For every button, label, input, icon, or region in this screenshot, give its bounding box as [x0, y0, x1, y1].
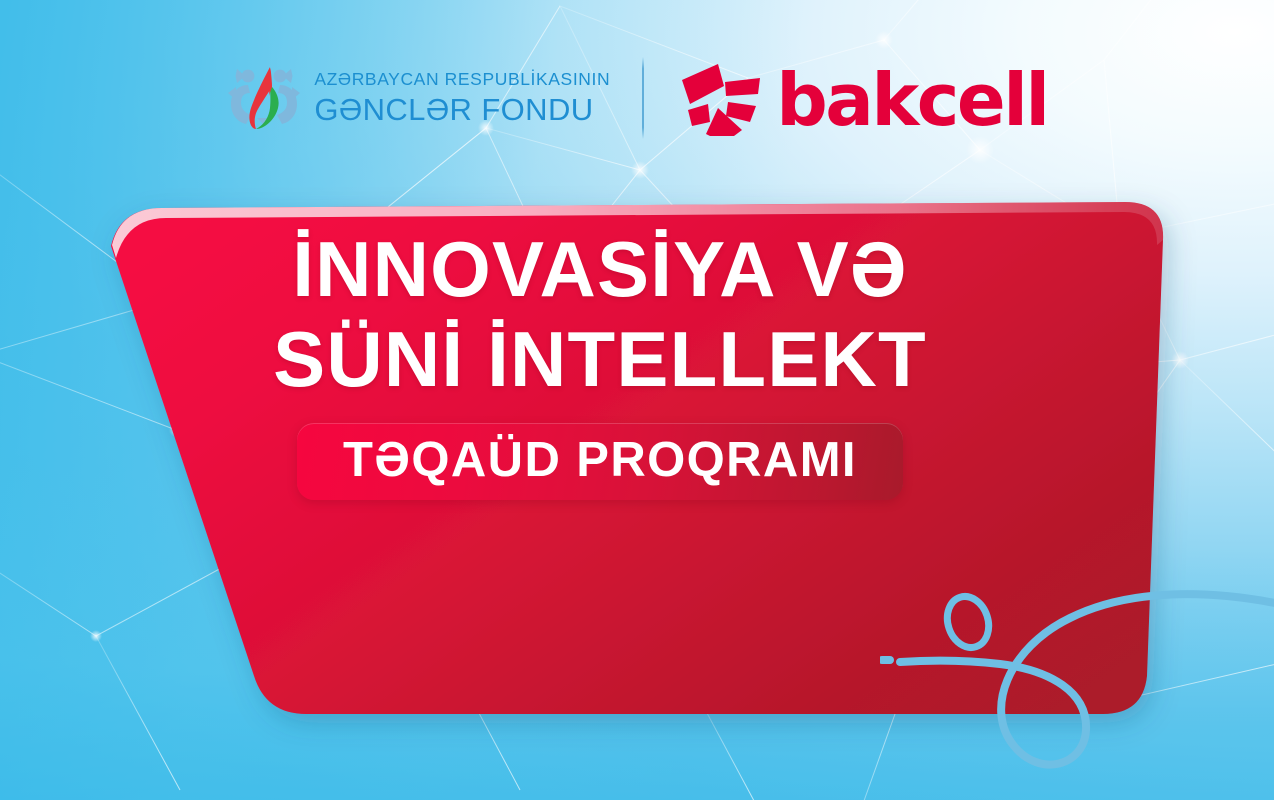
promo-banner: AZƏRBAYCAN RESPUBLİKASININ GƏNCLƏR FONDU…: [0, 0, 1274, 800]
genclar-fondu-emblem-icon: [226, 63, 302, 133]
youth-fund-logo[interactable]: AZƏRBAYCAN RESPUBLİKASININ GƏNCLƏR FONDU: [226, 63, 610, 133]
youth-fund-wordmark: AZƏRBAYCAN RESPUBLİKASININ GƏNCLƏR FONDU: [314, 71, 610, 125]
youth-fund-line-2: GƏNCLƏR FONDU: [314, 94, 610, 125]
bakcell-logo[interactable]: bakcell: [676, 60, 1047, 136]
logo-divider: [642, 57, 644, 139]
bakcell-wordmark: bakcell: [776, 64, 1047, 136]
youth-fund-line-1: AZƏRBAYCAN RESPUBLİKASININ: [314, 71, 610, 89]
bakcell-star-mark-icon: [676, 60, 762, 136]
logo-strip: AZƏRBAYCAN RESPUBLİKASININ GƏNCLƏR FONDU…: [0, 52, 1274, 144]
